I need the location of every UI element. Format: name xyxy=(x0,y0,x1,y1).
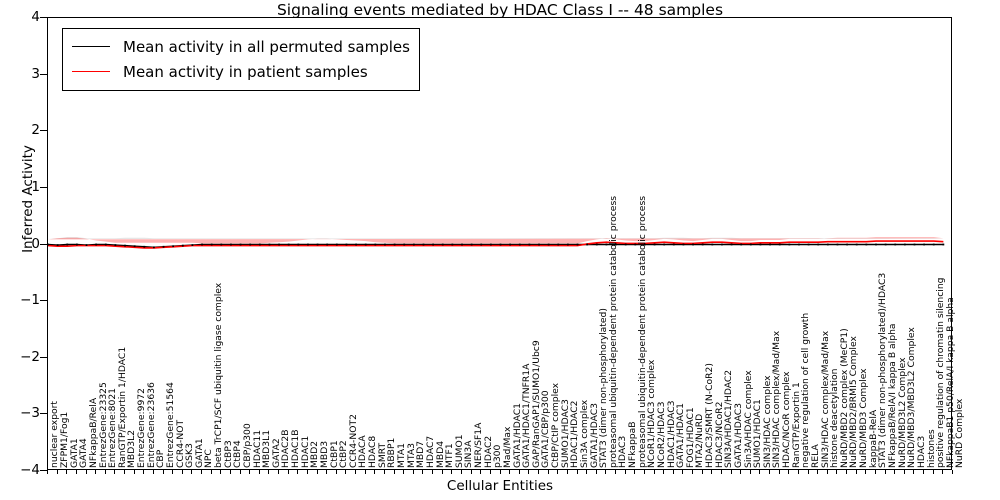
x-tick-mark xyxy=(798,470,799,474)
permuted-data-point xyxy=(837,244,839,246)
y-tick-label: −4 xyxy=(20,462,40,478)
chart-legend: Mean activity in all permuted samples Me… xyxy=(62,28,420,91)
x-tick-mark xyxy=(374,470,375,474)
permuted-data-point xyxy=(192,244,194,246)
x-tick-mark xyxy=(480,470,481,474)
permuted-data-point xyxy=(432,244,434,246)
permuted-data-point xyxy=(57,244,59,246)
permuted-data-point xyxy=(172,245,174,247)
y-tick-label: 0 xyxy=(31,236,40,252)
x-tick-mark xyxy=(865,470,866,474)
x-tick-mark xyxy=(808,470,809,474)
permuted-data-point xyxy=(471,244,473,246)
permuted-data-point xyxy=(384,244,386,246)
permuted-data-point xyxy=(740,244,742,246)
permuted-data-point xyxy=(86,244,88,246)
x-tick-mark xyxy=(740,470,741,474)
permuted-data-point xyxy=(528,244,530,246)
permuted-data-point xyxy=(134,245,136,247)
x-tick-mark xyxy=(163,470,164,474)
y-tick-label: −3 xyxy=(20,405,40,421)
permuted-data-point xyxy=(557,244,559,246)
x-tick-mark xyxy=(615,470,616,474)
x-tick-mark xyxy=(422,470,423,474)
x-tick-mark xyxy=(57,470,58,474)
x-tick-mark xyxy=(394,470,395,474)
permuted-data-point xyxy=(548,244,550,246)
x-tick-mark xyxy=(654,470,655,474)
y-tick-mark xyxy=(40,74,47,75)
y-tick-mark xyxy=(40,244,47,245)
permuted-data-point xyxy=(230,244,232,246)
y-tick-label: 3 xyxy=(31,66,40,82)
legend-line-icon-patient xyxy=(72,71,110,72)
x-tick-mark xyxy=(182,470,183,474)
permuted-data-point xyxy=(817,244,819,246)
x-tick-mark xyxy=(500,470,501,474)
permuted-data-point xyxy=(124,245,126,247)
permuted-data-point xyxy=(355,244,357,246)
permuted-data-point xyxy=(201,244,203,246)
y-tick-label: −2 xyxy=(20,349,40,365)
x-tick-mark xyxy=(230,470,231,474)
permuted-data-point xyxy=(538,244,540,246)
x-tick-mark xyxy=(673,470,674,474)
x-tick-mark xyxy=(384,470,385,474)
x-tick-mark xyxy=(76,470,77,474)
x-tick-mark xyxy=(557,470,558,474)
permuted-data-point xyxy=(278,244,280,246)
x-tick-mark xyxy=(769,470,770,474)
x-tick-mark xyxy=(249,470,250,474)
x-tick-mark xyxy=(779,470,780,474)
x-tick-mark xyxy=(413,470,414,474)
permuted-data-point xyxy=(211,244,213,246)
x-tick-mark xyxy=(952,470,953,474)
x-tick-mark xyxy=(875,470,876,474)
permuted-data-point xyxy=(182,245,184,247)
y-tick-mark xyxy=(40,470,47,471)
permuted-data-point xyxy=(933,244,935,246)
permuted-data-point xyxy=(509,244,511,246)
permuted-data-point xyxy=(346,244,348,246)
permuted-data-point xyxy=(423,244,425,246)
permuted-data-point xyxy=(683,244,685,246)
x-tick-mark xyxy=(923,470,924,474)
permuted-data-point xyxy=(48,244,49,246)
permuted-data-point xyxy=(702,244,704,246)
x-tick-mark xyxy=(605,470,606,474)
y-tick-label: 4 xyxy=(31,9,40,25)
y-tick-label: −1 xyxy=(20,292,40,308)
permuted-data-point xyxy=(259,244,261,246)
x-tick-mark xyxy=(442,470,443,474)
x-tick-mark xyxy=(490,470,491,474)
permuted-data-point xyxy=(374,244,376,246)
permuted-data-point xyxy=(326,244,328,246)
y-tick-mark xyxy=(40,300,47,301)
x-tick-mark xyxy=(885,470,886,474)
x-tick-mark xyxy=(663,470,664,474)
permuted-data-point xyxy=(153,246,155,248)
permuted-data-point xyxy=(500,244,502,246)
x-tick-mark xyxy=(134,470,135,474)
permuted-data-point xyxy=(663,244,665,246)
x-tick-mark xyxy=(519,470,520,474)
y-tick-mark xyxy=(40,17,47,18)
x-tick-mark xyxy=(268,470,269,474)
x-tick-mark xyxy=(172,470,173,474)
permuted-data-point xyxy=(307,244,309,246)
x-tick-mark xyxy=(567,470,568,474)
x-tick-mark xyxy=(86,470,87,474)
x-tick-mark xyxy=(336,470,337,474)
permuted-data-point xyxy=(644,244,646,246)
x-tick-mark xyxy=(702,470,703,474)
permuted-data-point xyxy=(442,244,444,246)
permuted-data-point xyxy=(615,244,617,246)
y-tick-label: 1 xyxy=(31,179,40,195)
permuted-data-point xyxy=(711,244,713,246)
x-tick-mark xyxy=(288,470,289,474)
x-category-label: NuRD Complex xyxy=(955,399,964,468)
permuted-data-point xyxy=(779,244,781,246)
permuted-data-point xyxy=(519,244,521,246)
permuted-data-point xyxy=(788,244,790,246)
x-tick-mark xyxy=(278,470,279,474)
x-tick-mark xyxy=(586,470,587,474)
permuted-data-point xyxy=(365,244,367,246)
permuted-data-point xyxy=(923,244,925,246)
x-tick-mark xyxy=(788,470,789,474)
permuted-data-point xyxy=(249,244,251,246)
x-tick-mark xyxy=(759,470,760,474)
permuted-data-point xyxy=(798,244,800,246)
permuted-data-point xyxy=(76,244,78,246)
x-tick-mark xyxy=(692,470,693,474)
permuted-data-point xyxy=(451,244,453,246)
x-tick-mark xyxy=(836,470,837,474)
permuted-data-point xyxy=(95,244,97,246)
permuted-data-point xyxy=(875,244,877,246)
x-tick-mark xyxy=(625,470,626,474)
y-tick-mark xyxy=(40,130,47,131)
permuted-data-point xyxy=(317,244,319,246)
permuted-data-point xyxy=(240,244,242,246)
permuted-data-point xyxy=(220,244,222,246)
x-tick-mark xyxy=(731,470,732,474)
x-tick-mark xyxy=(355,470,356,474)
x-tick-mark xyxy=(365,470,366,474)
y-tick-mark xyxy=(40,413,47,414)
permuted-data-point xyxy=(625,244,627,246)
permuted-data-point xyxy=(105,244,107,246)
y-tick-mark xyxy=(40,187,47,188)
x-tick-mark xyxy=(47,470,48,474)
permuted-data-point xyxy=(827,244,829,246)
x-tick-mark xyxy=(509,470,510,474)
x-tick-mark xyxy=(211,470,212,474)
permuted-data-point xyxy=(461,244,463,246)
x-tick-mark xyxy=(711,470,712,474)
permuted-data-point xyxy=(808,244,810,246)
x-tick-mark xyxy=(143,470,144,474)
permuted-data-point xyxy=(673,244,675,246)
permuted-data-point xyxy=(114,244,116,246)
x-tick-mark xyxy=(297,470,298,474)
permuted-data-point xyxy=(721,244,723,246)
y-axis: Inferred Activity 43210−1−2−3−4 xyxy=(0,0,47,500)
permuted-data-point xyxy=(769,244,771,246)
x-tick-mark xyxy=(577,470,578,474)
x-tick-mark xyxy=(201,470,202,474)
permuted-data-point xyxy=(904,244,906,246)
x-tick-mark xyxy=(326,470,327,474)
x-axis-label: Cellular Entities xyxy=(0,478,1000,494)
legend-line-icon-permuted xyxy=(72,46,110,47)
x-tick-mark xyxy=(259,470,260,474)
x-tick-mark xyxy=(317,470,318,474)
legend-label-permuted: Mean activity in all permuted samples xyxy=(123,38,410,56)
x-tick-mark xyxy=(894,470,895,474)
permuted-data-point xyxy=(634,244,636,246)
permuted-data-point xyxy=(914,244,916,246)
legend-item-patient: Mean activity in patient samples xyxy=(72,59,410,84)
permuted-data-point xyxy=(846,244,848,246)
permuted-data-point xyxy=(143,246,145,248)
x-tick-mark xyxy=(403,470,404,474)
x-tick-mark xyxy=(95,470,96,474)
permuted-data-point xyxy=(297,244,299,246)
permuted-data-point xyxy=(865,244,867,246)
permuted-data-point xyxy=(856,244,858,246)
y-tick-mark xyxy=(40,357,47,358)
x-tick-mark xyxy=(933,470,934,474)
x-tick-mark xyxy=(124,470,125,474)
x-tick-mark xyxy=(345,470,346,474)
permuted-data-point xyxy=(750,244,752,246)
x-tick-mark xyxy=(913,470,914,474)
x-tick-mark xyxy=(432,470,433,474)
x-tick-mark xyxy=(220,470,221,474)
permuted-data-point xyxy=(894,244,896,246)
x-tick-mark xyxy=(827,470,828,474)
permuted-data-point xyxy=(288,244,290,246)
x-tick-mark xyxy=(548,470,549,474)
x-tick-mark xyxy=(538,470,539,474)
x-tick-mark xyxy=(114,470,115,474)
permuted-data-point xyxy=(394,244,396,246)
x-tick-mark xyxy=(153,470,154,474)
x-tick-mark xyxy=(856,470,857,474)
x-tick-mark xyxy=(191,470,192,474)
x-tick-mark xyxy=(66,470,67,474)
x-tick-mark xyxy=(528,470,529,474)
permuted-data-point xyxy=(490,244,492,246)
permuted-data-point xyxy=(731,244,733,246)
x-tick-mark xyxy=(307,470,308,474)
x-tick-mark xyxy=(471,470,472,474)
permuted-data-point xyxy=(942,244,944,246)
x-tick-mark xyxy=(817,470,818,474)
x-tick-mark xyxy=(634,470,635,474)
permuted-data-point xyxy=(654,244,656,246)
permuted-data-point xyxy=(586,244,588,246)
permuted-data-point xyxy=(692,244,694,246)
x-tick-mark xyxy=(240,470,241,474)
permuted-data-point xyxy=(885,244,887,246)
permuted-data-point xyxy=(577,244,579,246)
permuted-data-point xyxy=(596,244,598,246)
x-tick-mark xyxy=(721,470,722,474)
x-tick-mark xyxy=(942,470,943,474)
legend-label-patient: Mean activity in patient samples xyxy=(123,63,368,81)
permuted-data-point xyxy=(336,244,338,246)
legend-item-permuted: Mean activity in all permuted samples xyxy=(72,34,410,59)
permuted-data-point xyxy=(606,244,608,246)
permuted-data-point xyxy=(567,244,569,246)
permuted-data-point xyxy=(269,244,271,246)
x-tick-mark xyxy=(846,470,847,474)
x-tick-mark xyxy=(904,470,905,474)
x-tick-mark xyxy=(644,470,645,474)
permuted-data-point xyxy=(403,244,405,246)
x-tick-mark xyxy=(105,470,106,474)
permuted-data-point xyxy=(760,244,762,246)
x-tick-mark xyxy=(596,470,597,474)
x-tick-mark xyxy=(461,470,462,474)
permuted-data-point xyxy=(480,244,482,246)
permuted-data-point xyxy=(413,244,415,246)
permuted-data-point xyxy=(163,246,165,248)
y-tick-label: 2 xyxy=(31,122,40,138)
x-tick-mark xyxy=(750,470,751,474)
permuted-data-point xyxy=(66,244,68,246)
chart-root: Signaling events mediated by HDAC Class … xyxy=(0,0,1000,500)
x-tick-mark xyxy=(451,470,452,474)
x-tick-mark xyxy=(682,470,683,474)
